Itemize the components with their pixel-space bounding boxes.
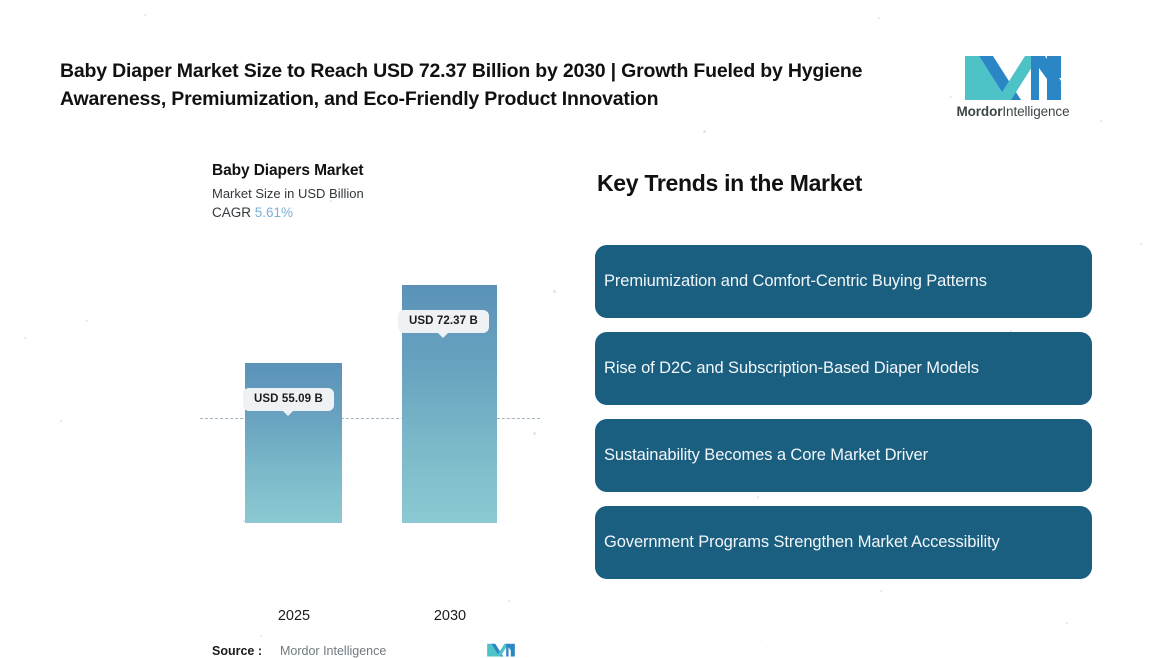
- trend-card-label: Rise of D2C and Subscription-Based Diape…: [604, 359, 979, 378]
- chart-subtitle: Market Size in USD Billion: [212, 186, 364, 201]
- trend-card[interactable]: Rise of D2C and Subscription-Based Diape…: [595, 332, 1092, 405]
- x-axis-tick-2025: 2025: [239, 608, 349, 624]
- bar-value-label-2025: USD 55.09 B: [243, 388, 334, 411]
- source-name: Mordor Intelligence: [280, 644, 386, 658]
- brand-name-light: Intelligence: [1002, 104, 1069, 119]
- trend-card-list: Premiumization and Comfort-Centric Buyin…: [595, 245, 1092, 593]
- infographic-page: Baby Diaper Market Size to Reach USD 72.…: [0, 0, 1170, 658]
- mordor-m-logo-icon: [486, 641, 516, 657]
- trend-card-label: Government Programs Strengthen Market Ac…: [604, 533, 1000, 552]
- chart-cagr: CAGR 5.61%: [212, 205, 293, 220]
- cagr-label: CAGR: [212, 205, 251, 220]
- source-label: Source :: [212, 644, 262, 658]
- trend-card[interactable]: Sustainability Becomes a Core Market Dri…: [595, 419, 1092, 492]
- trend-card-label: Premiumization and Comfort-Centric Buyin…: [604, 272, 987, 291]
- cagr-value: 5.61%: [255, 205, 293, 220]
- chart-source: Source : Mordor Intelligence: [212, 641, 542, 658]
- header: Baby Diaper Market Size to Reach USD 72.…: [0, 0, 1170, 140]
- bar-2025: [245, 363, 342, 523]
- brand-name-bold: Mordor: [956, 104, 1002, 119]
- key-trends-heading: Key Trends in the Market: [597, 170, 862, 197]
- brand-logo: MordorIntelligence: [948, 48, 1078, 123]
- trend-card[interactable]: Government Programs Strengthen Market Ac…: [595, 506, 1092, 579]
- chart-panel: Baby Diapers Market Market Size in USD B…: [195, 158, 545, 588]
- mordor-m-logo-icon: [961, 48, 1065, 100]
- key-trends-panel: Key Trends in the Market Premiumization …: [595, 170, 1095, 590]
- trend-card-label: Sustainability Becomes a Core Market Dri…: [604, 446, 928, 465]
- bar-chart-plot: USD 55.09 B USD 72.37 B 2025 2030 Source…: [195, 238, 545, 523]
- brand-wordmark: MordorIntelligence: [948, 104, 1078, 119]
- trend-card[interactable]: Premiumization and Comfort-Centric Buyin…: [595, 245, 1092, 318]
- page-title: Baby Diaper Market Size to Reach USD 72.…: [60, 58, 890, 113]
- chart-title: Baby Diapers Market: [212, 162, 363, 180]
- x-axis-tick-2030: 2030: [395, 608, 505, 624]
- bar-value-label-2030: USD 72.37 B: [398, 310, 489, 333]
